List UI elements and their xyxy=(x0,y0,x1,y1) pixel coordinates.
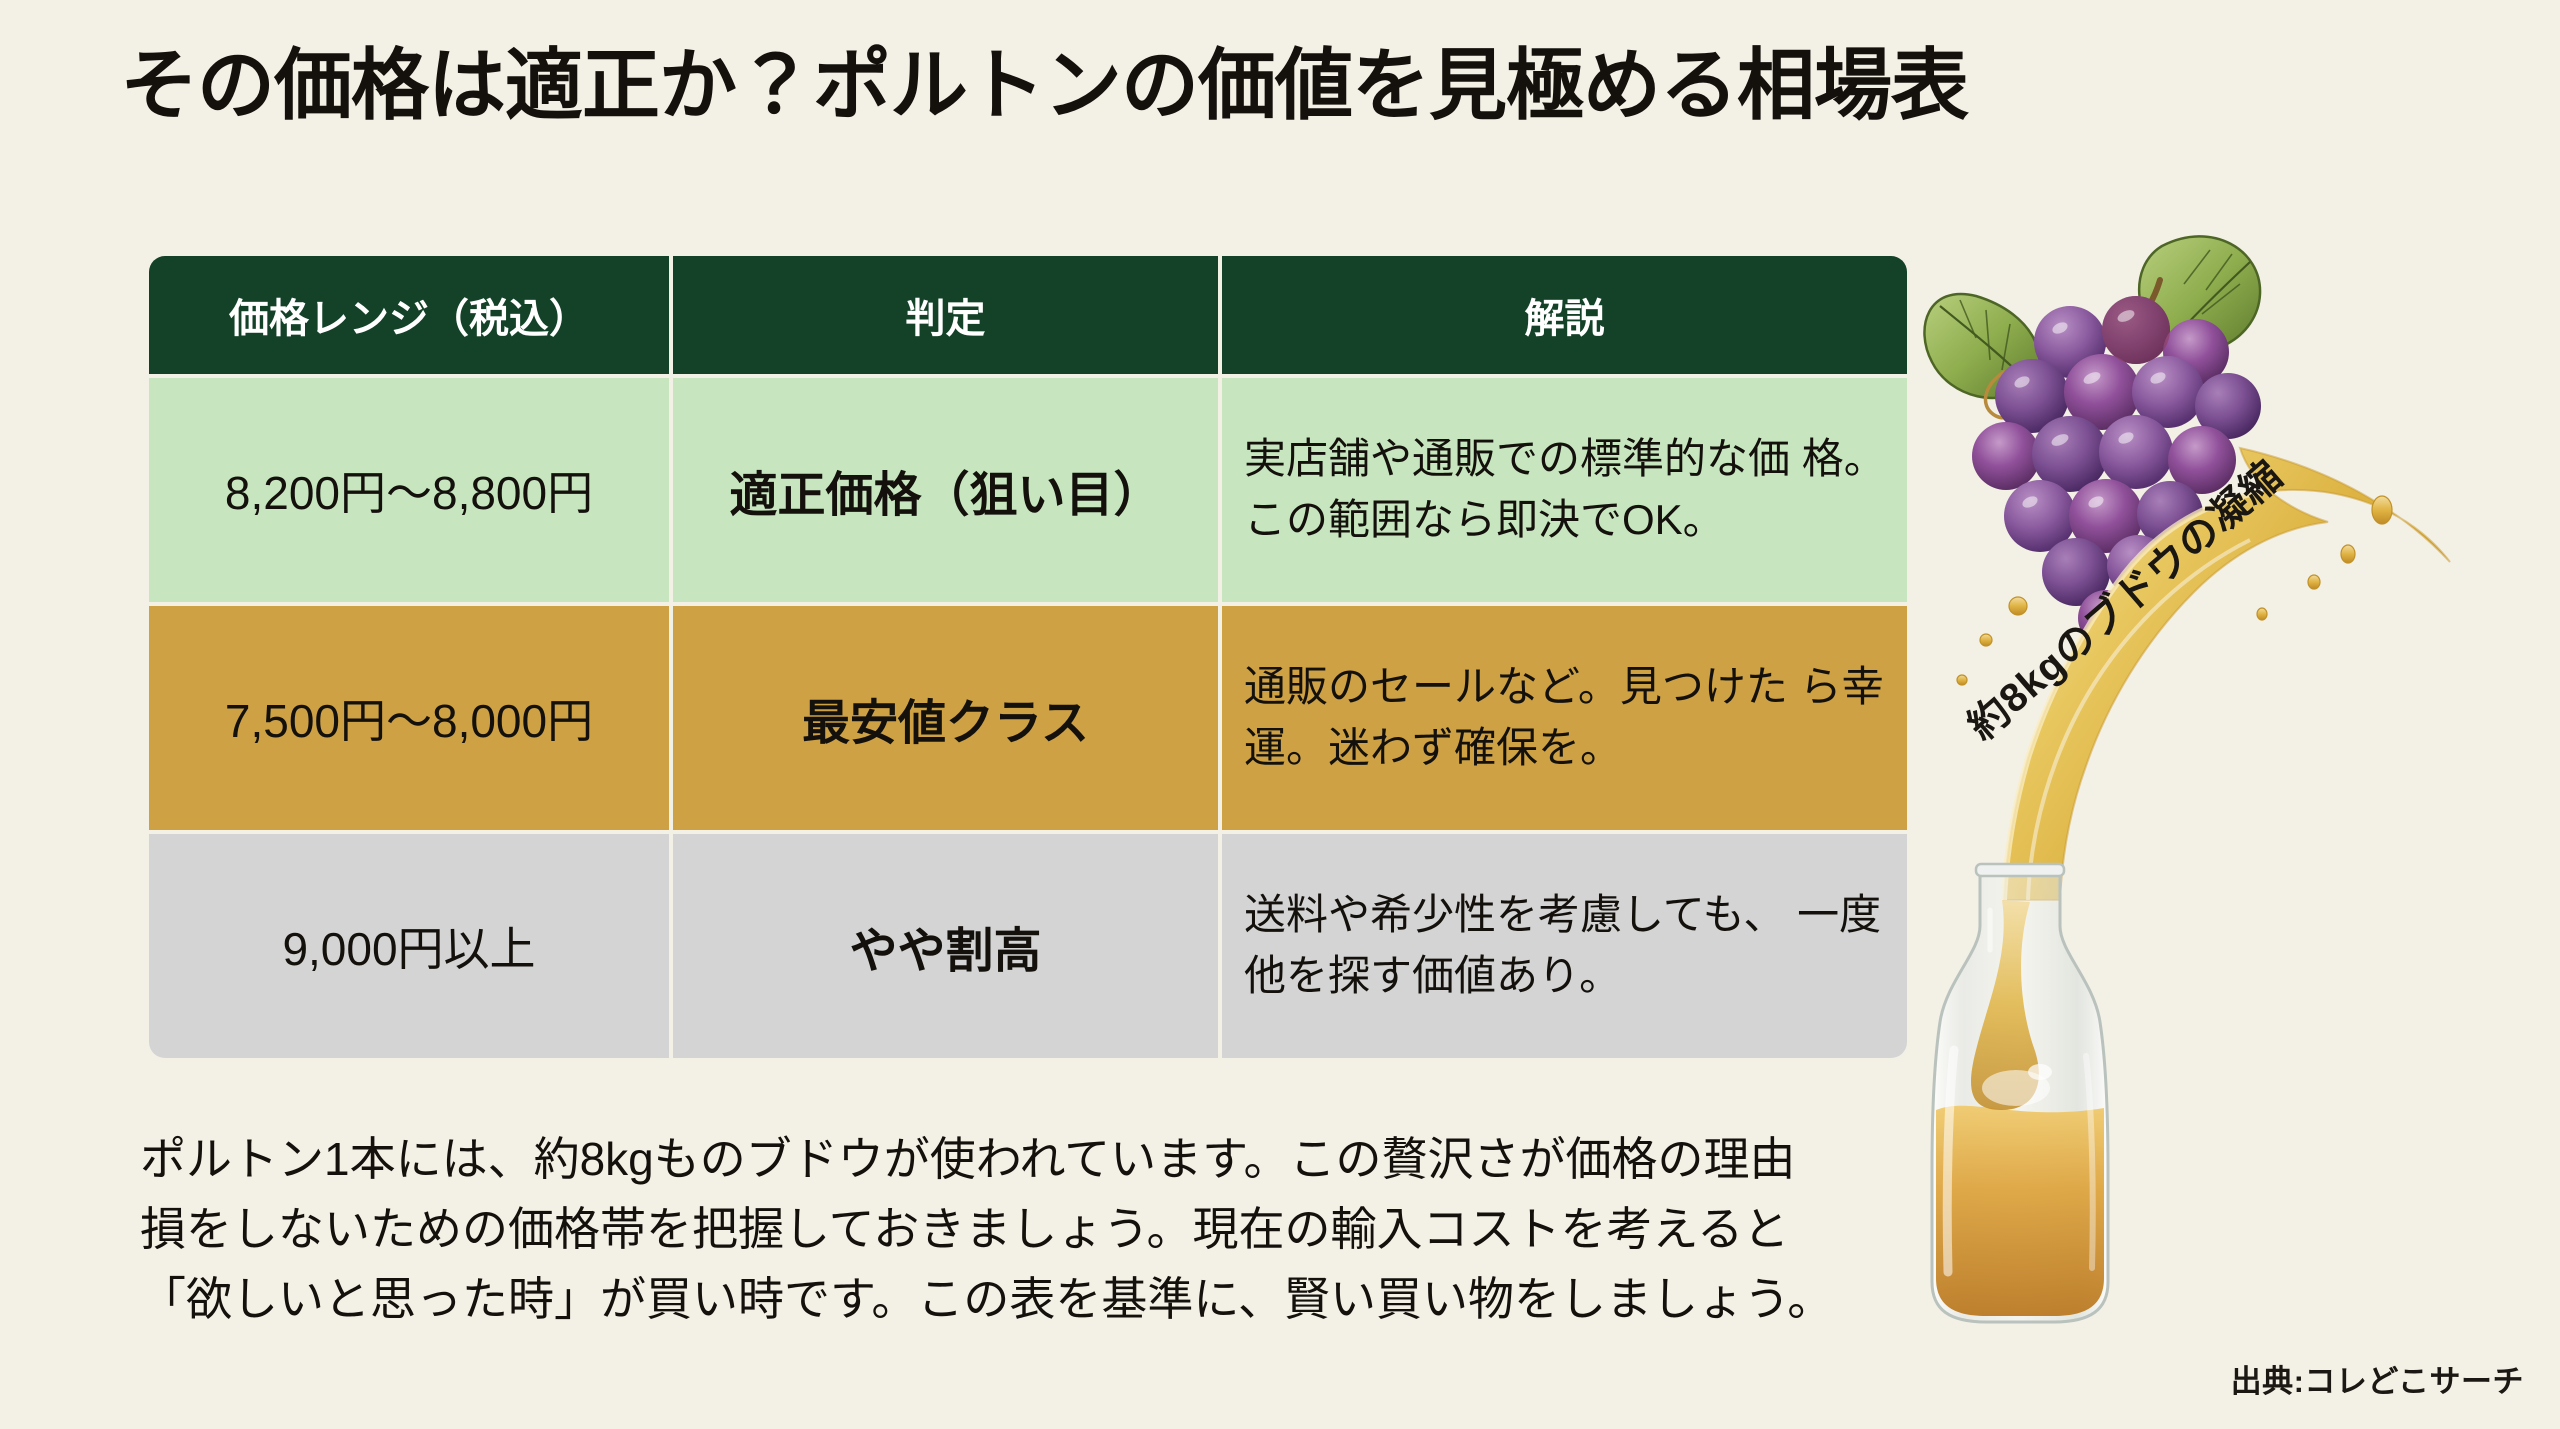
table-row: 7,500円〜8,000円 最安値クラス 通販のセールなど。見つけた ら幸運。迷… xyxy=(149,606,1907,830)
table-row: 8,200円〜8,800円 適正価格（狙い目） 実店舗や通販での標準的な価 格。… xyxy=(149,378,1907,602)
table-header: 価格レンジ（税込） 判定 解説 xyxy=(149,256,1907,374)
summary-paragraph: ポルトン1本には、約8kgものブドウが使われています。この贅沢さが価格の理由 損… xyxy=(140,1125,1930,1335)
cell-description: 通販のセールなど。見つけた ら幸運。迷わず確保を。 xyxy=(1222,606,1907,830)
column-header-verdict: 判定 xyxy=(673,256,1218,374)
table-row: 9,000円以上 やや割高 送料や希少性を考慮しても、 一度他を探す価値あり。 xyxy=(149,834,1907,1058)
column-header-price-range: 価格レンジ（税込） xyxy=(149,256,669,374)
page-title: その価格は適正か？ポルトンの価値を見極める相場表 xyxy=(120,42,2460,129)
infographic-page: その価格は適正か？ポルトンの価値を見極める相場表 価格レンジ（税込） 判定 解説… xyxy=(0,0,2560,1429)
summary-line-3: 「欲しいと思った時」が買い時です。この表を基準に、賢い買い物をしましょう。 xyxy=(140,1265,1930,1335)
column-header-description: 解説 xyxy=(1222,256,1907,374)
cell-price-range: 8,200円〜8,800円 xyxy=(149,378,669,602)
price-table: 価格レンジ（税込） 判定 解説 8,200円〜8,800円 適正価格（狙い目） … xyxy=(145,252,1911,1062)
price-table-container: 価格レンジ（税込） 判定 解説 8,200円〜8,800円 適正価格（狙い目） … xyxy=(145,252,1895,1062)
cell-description: 実店舗や通販での標準的な価 格。この範囲なら即決でOK。 xyxy=(1222,378,1907,602)
summary-line-2: 損をしないための価格帯を把握しておきましょう。現在の輸入コストを考えると xyxy=(140,1195,1930,1265)
table-body: 8,200円〜8,800円 適正価格（狙い目） 実店舗や通販での標準的な価 格。… xyxy=(149,378,1907,1058)
cell-price-range: 9,000円以上 xyxy=(149,834,669,1058)
grape-bottle-illustration xyxy=(1910,210,2530,1340)
description-line: 通販のセールなど。見つけた xyxy=(1244,663,1788,710)
cell-verdict: やや割高 xyxy=(673,834,1218,1058)
cell-price-range: 7,500円〜8,000円 xyxy=(149,606,669,830)
cell-verdict: 適正価格（狙い目） xyxy=(673,378,1218,602)
cell-verdict: 最安値クラス xyxy=(673,606,1218,830)
table-header-row: 価格レンジ（税込） 判定 解説 xyxy=(149,256,1907,374)
description-line: 送料や希少性を考慮しても、 xyxy=(1244,891,1785,938)
glass-bottle xyxy=(1932,864,2108,1322)
cell-description: 送料や希少性を考慮しても、 一度他を探す価値あり。 xyxy=(1222,834,1907,1058)
source-attribution: 出典:コレどこサーチ xyxy=(2231,1356,2524,1401)
summary-line-1: ポルトン1本には、約8kgものブドウが使われています。この贅沢さが価格の理由 xyxy=(140,1125,1930,1195)
description-line: 実店舗や通販での標準的な価 xyxy=(1244,435,1790,482)
